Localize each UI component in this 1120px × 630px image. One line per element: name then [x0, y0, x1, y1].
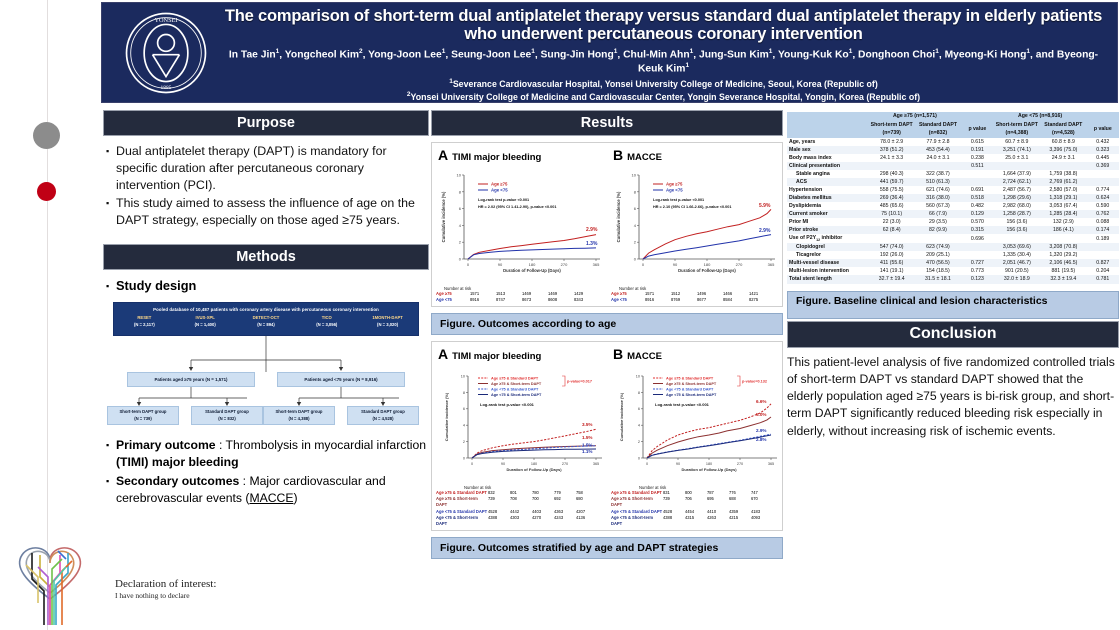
list-item: ▪ Secondary outcomes : Major cardiovascu… [106, 473, 429, 507]
svg-text:365: 365 [768, 262, 775, 267]
svg-text:180: 180 [531, 462, 537, 466]
cell-standard-dapt-ge75 [915, 162, 961, 170]
primary-outcome-emphasis: (TIMI) major bleeding [116, 455, 239, 469]
svg-text:Age ≥75 & Standard DAPT: Age ≥75 & Standard DAPT [666, 376, 714, 380]
cell-pvalue-ge75: 0.518 [961, 194, 993, 202]
svg-text:Age ≥75 & Standard DAPT: Age ≥75 & Standard DAPT [491, 376, 539, 380]
panel-title: MACCE [627, 351, 662, 362]
cell-pvalue-ge75: 0.727 [961, 259, 993, 267]
figure-1a-label: ATIMI major bleeding [438, 147, 607, 163]
svg-text:1.5%: 1.5% [582, 442, 592, 447]
svg-text:2: 2 [638, 440, 640, 444]
cell-pvalue-lt75: 0.432 [1087, 138, 1119, 146]
figure-2b-label: BMACCE [613, 346, 782, 362]
cell-pvalue-ge75 [961, 170, 993, 178]
table-row: Current smoker75 (10.1)66 (7.9)0.1291,25… [787, 210, 1119, 218]
flowchart-leaf-box: Short-term DAPT group (N = 4,388) [263, 406, 335, 425]
endpoint-label-red: 2.9% [586, 227, 598, 233]
svg-text:90: 90 [673, 262, 678, 267]
panel-letter: B [613, 346, 623, 362]
svg-text:1.1%: 1.1% [582, 449, 592, 454]
figure-2b: BMACCE 0 2 4 6 8 10 [609, 346, 782, 528]
cell-short-dapt-lt75: 1,298 (29.6) [994, 194, 1041, 202]
flowchart-leaf-box: Standard DAPT group (N = 4,528) [347, 406, 419, 425]
svg-text:10: 10 [632, 173, 637, 178]
svg-text:4: 4 [634, 223, 637, 228]
svg-text:0: 0 [471, 462, 473, 466]
conclusion-section-header: Conclusion [787, 321, 1119, 348]
risk-row: Age <75 8916 8769 8677 8584 8275 [611, 297, 782, 303]
row-label: Hypertension [787, 186, 869, 194]
row-label: Multi-lesion intervention [787, 267, 869, 275]
cell-short-dapt-lt75: 25.0 ± 3.1 [994, 154, 1041, 162]
km-curve-1b: 0 2 4 6 8 10 0 90 180 270 [609, 163, 782, 285]
cell-standard-dapt-lt75: 60.8 ± 8.9 [1040, 138, 1087, 146]
svg-text:1.5%: 1.5% [582, 435, 592, 440]
bullet-icon: ▪ [106, 195, 116, 229]
cell-standard-dapt-ge75: 29 (3.5) [915, 218, 961, 226]
trial-n: (N = 2,117) [114, 322, 175, 327]
cell-pvalue-ge75: 0.129 [961, 210, 993, 218]
figure-2a: ATIMI major bleeding 0 2 4 6 8 [434, 346, 607, 528]
cell-short-dapt-lt75: 156 (3.6) [994, 218, 1041, 226]
table-row: Ticagrelor192 (26.0)209 (25.1)1,335 (30.… [787, 251, 1119, 259]
svg-text:p-value=0.017: p-value=0.017 [567, 379, 592, 383]
figure-1b-label: BMACCE [613, 147, 782, 163]
cell-pvalue-lt75 [1087, 178, 1119, 186]
risk-row: Age ≥75 & Short-term DAPT 739 706 695 68… [611, 496, 782, 509]
cell-pvalue-ge75: 0.238 [961, 154, 993, 162]
svg-text:Age <75 & Standard DAPT: Age <75 & Standard DAPT [491, 387, 539, 391]
flowchart-trial: TICO (N = 3,056) [296, 315, 357, 328]
svg-text:0: 0 [634, 257, 637, 262]
svg-text:Duration of Follow-Up (Days): Duration of Follow-Up (Days) [503, 268, 561, 273]
cell-standard-dapt-ge75: 82 (9.9) [915, 226, 961, 234]
trial-n: (N = 3,020) [357, 322, 418, 327]
declaration-body: I have nothing to declare [115, 591, 355, 600]
cell-standard-dapt-ge75: 621 (74.6) [915, 186, 961, 194]
panel-letter: A [438, 147, 448, 163]
row-label: ACS [787, 178, 869, 186]
cell-standard-dapt-lt75 [1040, 234, 1087, 243]
cell-standard-dapt-lt75: 3,053 (67.4) [1040, 202, 1087, 210]
svg-text:Duration of Follow-Up (Days): Duration of Follow-Up (Days) [678, 268, 736, 273]
km-curve-2b: 0 2 4 6 8 10 0 90 180 270 [609, 362, 782, 484]
cell-standard-dapt-lt75: 3,396 (75.0) [1040, 146, 1087, 154]
cell-short-dapt-ge75: 378 (51.2) [869, 146, 915, 154]
cell-pvalue-lt75: 0.323 [1087, 146, 1119, 154]
flowchart-age-lt75-box: Patients aged <75 years (N = 8,916) [277, 372, 405, 387]
study-design-label: Study design [116, 278, 196, 295]
table-row: Prior stroke62 (8.4)82 (9.9)0.315156 (3.… [787, 226, 1119, 234]
km-curve-1a: 0 2 4 6 8 10 0 90 180 [434, 163, 607, 285]
left-column: Purpose ▪ Dual antiplatelet therapy (DAP… [103, 110, 429, 510]
svg-text:270: 270 [737, 462, 743, 466]
svg-text:6.6%: 6.6% [756, 399, 766, 404]
svg-text:6: 6 [638, 407, 640, 411]
cell-short-dapt-ge75: 78.0 ± 2.9 [869, 138, 915, 146]
cell-standard-dapt-ge75: 322 (38.7) [915, 170, 961, 178]
cell-pvalue-lt75: 0.369 [1087, 162, 1119, 170]
cell-short-dapt-lt75: 32.0 ± 18.9 [994, 275, 1041, 283]
cell-standard-dapt-lt75: 186 (4.1) [1040, 226, 1087, 234]
svg-text:0: 0 [467, 262, 470, 267]
cell-pvalue-lt75: 0.590 [1087, 202, 1119, 210]
cell-standard-dapt-lt75: 881 (19.5) [1040, 267, 1087, 275]
svg-text:270: 270 [736, 262, 743, 267]
row-label: Total stent length [787, 275, 869, 283]
row-label: Diabetes mellitus [787, 194, 869, 202]
trial-name: 1MONTH-DAPT [357, 315, 418, 320]
endpoint-label-red: 5.9% [759, 203, 771, 209]
th-blank-p2 [1087, 112, 1119, 121]
trial-n: (N = 3,056) [296, 322, 357, 327]
flowchart-trial: 1MONTH-DAPT (N = 3,020) [357, 315, 418, 328]
primary-outcome: Primary outcome : Thrombolysis in myocar… [116, 437, 429, 471]
row-label: Male sex [787, 146, 869, 154]
flowchart-trial: RESET (N = 2,117) [114, 315, 175, 328]
bullet-icon: ▪ [106, 278, 116, 295]
primary-outcome-text: : Thrombolysis in myocardial infarction [216, 438, 426, 452]
primary-outcome-label: Primary outcome [116, 438, 216, 452]
svg-text:YONSEI: YONSEI [154, 17, 177, 24]
row-label: Clinical presentation [787, 162, 869, 170]
row-label: Body mass index [787, 154, 869, 162]
svg-text:Age <75 & Standard DAPT: Age <75 & Standard DAPT [666, 387, 714, 391]
methods-section-header: Methods [103, 244, 429, 270]
trial-name: IVUS-XPL [175, 315, 236, 320]
heart-logo-icon [4, 533, 96, 625]
declaration-title: Declaration of interest: [115, 578, 355, 590]
risk-row: Age ≥75 & Short-term DAPT 739 708 700 69… [436, 496, 607, 509]
cell-standard-dapt-ge75: 510 (61.3) [915, 178, 961, 186]
figure-1-caption: Figure. Outcomes according to age [431, 313, 783, 335]
svg-text:8: 8 [638, 390, 640, 394]
svg-text:365: 365 [593, 462, 599, 466]
poster-affiliation-2: 2Yonsei University College of Medicine a… [220, 91, 1107, 103]
cell-short-dapt-ge75: 411 (55.6) [869, 259, 915, 267]
svg-text:Log-rank test p-value <0.001: Log-rank test p-value <0.001 [478, 198, 529, 202]
cell-standard-dapt-lt75: 1,285 (28.4) [1040, 210, 1087, 218]
cell-pvalue-lt75 [1087, 243, 1119, 251]
poster-affiliation-1: 1Severance Cardiovascular Hospital, Yons… [220, 78, 1107, 90]
purpose-bullet-1: Dual antiplatelet therapy (DAPT) is mand… [116, 143, 429, 194]
trial-name: TICO [296, 315, 357, 320]
outcomes-list: ▪ Primary outcome : Thrombolysis in myoc… [103, 437, 429, 507]
cell-short-dapt-lt75: 2,051 (46.7) [994, 259, 1041, 267]
table-row: Multi-vessel disease411 (55.6)470 (56.5)… [787, 259, 1119, 267]
secondary-outcome-tail: ) [293, 491, 297, 505]
cell-short-dapt-lt75: 60.7 ± 8.9 [994, 138, 1041, 146]
cell-pvalue-ge75: 0.696 [961, 234, 993, 243]
table-row: Male sex378 (51.2)453 (54.4)0.1913,251 (… [787, 146, 1119, 154]
cell-pvalue-ge75: 0.773 [961, 267, 993, 275]
cell-short-dapt-lt75: 1,335 (30.4) [994, 251, 1041, 259]
cell-short-dapt-ge75: 24.1 ± 3.3 [869, 154, 915, 162]
row-label: Prior MI [787, 218, 869, 226]
row-label: Dyslipidemia [787, 202, 869, 210]
cell-standard-dapt-ge75: 24.0 ± 3.1 [915, 154, 961, 162]
secondary-outcome-label: Secondary outcomes [116, 474, 239, 488]
cell-pvalue-lt75: 0.762 [1087, 210, 1119, 218]
th-standard-dapt-1: Standard DAPT [915, 121, 961, 130]
cell-standard-dapt-ge75: 77.9 ± 2.8 [915, 138, 961, 146]
svg-text:4: 4 [638, 423, 640, 427]
svg-text:180: 180 [529, 262, 536, 267]
cell-pvalue-lt75: 0.781 [1087, 275, 1119, 283]
table-row: ACS441 (59.7)510 (61.3)2,724 (62.1)2,769… [787, 178, 1119, 186]
svg-text:Cumulative incidence (%): Cumulative incidence (%) [444, 392, 449, 441]
svg-text:Duration of Follow-Up (Days): Duration of Follow-Up (Days) [681, 467, 737, 472]
svg-text:6: 6 [634, 206, 637, 211]
svg-text:p-value=0.132: p-value=0.132 [742, 379, 767, 383]
th-short-dapt-1: Short-term DAPT [869, 121, 915, 130]
cell-standard-dapt-ge75: 623 (74.9) [915, 243, 961, 251]
baseline-characteristics-table: Age ≥75 (n=1,571) Age <75 (n=8,916) Shor… [787, 112, 1119, 284]
th-blank [787, 112, 869, 121]
risk-row: Age <75 & Short-term DAPT 4388 4303 4270… [436, 515, 607, 528]
table-row: Clopidogrel547 (74.0)623 (74.9)3,053 (69… [787, 243, 1119, 251]
cell-short-dapt-lt75: 2,487 (56.7) [994, 186, 1041, 194]
panel-title: MACCE [627, 152, 662, 163]
list-item: ▪ Primary outcome : Thrombolysis in myoc… [106, 437, 429, 471]
km-curve-2a: 0 2 4 6 8 10 0 90 180 270 [434, 362, 607, 484]
cell-short-dapt-lt75: 3,053 (69.6) [994, 243, 1041, 251]
flowchart-age-ge75-box: Patients aged ≥75 years (N = 1,571) [127, 372, 255, 387]
declaration-of-interest: Declaration of interest: I have nothing … [115, 578, 355, 600]
poster-title: The comparison of short-term dual antipl… [220, 7, 1107, 44]
svg-text:10: 10 [461, 374, 465, 378]
endpoint-label-blue: 2.9% [759, 228, 771, 234]
purpose-bullet-list: ▪ Dual antiplatelet therapy (DAPT) is ma… [103, 143, 429, 230]
cell-pvalue-ge75 [961, 178, 993, 186]
svg-text:HR = 2.02 (95% CI 1.41-2.90),: HR = 2.02 (95% CI 1.41-2.90), p-value <0… [478, 205, 557, 209]
table-row: Age, years78.0 ± 2.977.9 ± 2.80.61560.7 … [787, 138, 1119, 146]
cell-short-dapt-ge75: 32.7 ± 19.4 [869, 275, 915, 283]
svg-text:Age ≥75 & Short-term DAPT: Age ≥75 & Short-term DAPT [491, 382, 542, 386]
endpoint-label-blue: 1.3% [586, 241, 598, 247]
row-label: Age, years [787, 138, 869, 146]
figure-2-caption: Figure. Outcomes stratified by age and D… [431, 537, 783, 559]
cell-pvalue-ge75: 0.315 [961, 226, 993, 234]
svg-text:2.9%: 2.9% [756, 428, 766, 433]
th-pvalue-1: p value [961, 121, 993, 138]
cell-standard-dapt-lt75: 1,320 (29.2) [1040, 251, 1087, 259]
svg-text:Age ≥75: Age ≥75 [666, 182, 683, 187]
cell-short-dapt-ge75: 298 (40.3) [869, 170, 915, 178]
svg-text:Age <75 & Short-term DAPT: Age <75 & Short-term DAPT [666, 393, 717, 397]
cell-standard-dapt-lt75: 1,759 (38.8) [1040, 170, 1087, 178]
table-row: Prior MI22 (3.0)29 (3.5)0.570156 (3.6)13… [787, 218, 1119, 226]
svg-text:Cumulative incidence (%): Cumulative incidence (%) [619, 392, 624, 441]
svg-text:Log-rank test p-value <0.001: Log-rank test p-value <0.001 [655, 402, 710, 407]
timeline-dot-red [37, 182, 56, 201]
row-label: Multi-vessel disease [787, 259, 869, 267]
table-row: Multi-lesion intervention141 (19.1)154 (… [787, 267, 1119, 275]
leaf-n: (N = 4,528) [372, 416, 393, 422]
cell-pvalue-lt75: 0.445 [1087, 154, 1119, 162]
svg-text:10: 10 [636, 374, 640, 378]
figure-1b: BMACCE 0 2 4 6 8 10 [609, 147, 782, 304]
table-row: Diabetes mellitus269 (36.4)316 (38.0)0.5… [787, 194, 1119, 202]
svg-text:2: 2 [463, 440, 465, 444]
cell-standard-dapt-lt75: 24.9 ± 3.1 [1040, 154, 1087, 162]
cell-short-dapt-ge75: 141 (19.1) [869, 267, 915, 275]
table-row: Stable angina298 (40.3)322 (38.7)1,664 (… [787, 170, 1119, 178]
km-plot-2a: 0 2 4 6 8 10 0 90 180 270 [434, 362, 607, 480]
svg-text:180: 180 [706, 462, 712, 466]
svg-text:4: 4 [459, 223, 462, 228]
cell-short-dapt-ge75: 192 (26.0) [869, 251, 915, 259]
cell-standard-dapt-ge75: 470 (56.5) [915, 259, 961, 267]
svg-text:3.5%: 3.5% [582, 422, 592, 427]
panel-letter: A [438, 346, 448, 362]
right-column: Age ≥75 (n=1,571) Age <75 (n=8,916) Shor… [787, 112, 1119, 440]
cell-short-dapt-ge75: 547 (74.0) [869, 243, 915, 251]
results-section-header: Results [431, 110, 783, 136]
panel-letter: B [613, 147, 623, 163]
cell-pvalue-lt75: 0.088 [1087, 218, 1119, 226]
trial-n: (N = 894) [236, 322, 297, 327]
conclusion-text: This patient-level analysis of five rand… [787, 354, 1119, 441]
svg-text:2: 2 [459, 240, 462, 245]
poster-header-banner: YONSEI 1885 The comparison of short-term… [101, 2, 1118, 103]
svg-text:0: 0 [463, 456, 465, 460]
cell-pvalue-ge75: 0.482 [961, 202, 993, 210]
svg-text:0: 0 [459, 257, 462, 262]
trial-name: DETECT-OCT [236, 315, 297, 320]
cell-standard-dapt-ge75: 209 (25.1) [915, 251, 961, 259]
cell-pvalue-lt75: 0.774 [1087, 186, 1119, 194]
cell-short-dapt-ge75: 441 (59.7) [869, 178, 915, 186]
table-row: Hypertension558 (75.5)621 (74.6)0.6912,4… [787, 186, 1119, 194]
table-row: Dyslipidemia485 (65.6)560 (67.3)0.4822,9… [787, 202, 1119, 210]
cell-short-dapt-lt75 [994, 162, 1041, 170]
svg-text:1885: 1885 [161, 85, 172, 91]
cell-standard-dapt-ge75: 560 (67.3) [915, 202, 961, 210]
cell-short-dapt-lt75: 3,251 (74.1) [994, 146, 1041, 154]
svg-text:90: 90 [501, 462, 505, 466]
svg-text:Cumulative incidence (%): Cumulative incidence (%) [441, 191, 446, 242]
cell-pvalue-ge75: 0.691 [961, 186, 993, 194]
cell-pvalue-lt75: 0.189 [1087, 234, 1119, 243]
table-header-sub-row: Short-term DAPT Standard DAPT p value Sh… [787, 121, 1119, 130]
cell-pvalue-lt75: 0.174 [1087, 226, 1119, 234]
flowchart-leaf-box: Standard DAPT group (N = 832) [191, 406, 263, 425]
purpose-bullet-2: This study aimed to assess the influence… [116, 195, 429, 229]
svg-text:8: 8 [463, 390, 465, 394]
cell-short-dapt-lt75 [994, 234, 1041, 243]
cell-short-dapt-lt75: 1,258 (28.7) [994, 210, 1041, 218]
svg-text:4: 4 [463, 423, 465, 427]
row-label: Clopidogrel [787, 243, 869, 251]
svg-text:Age <75 & Short-term DAPT: Age <75 & Short-term DAPT [491, 393, 542, 397]
svg-text:180: 180 [704, 262, 711, 267]
figure-1a: ATIMI major bleeding 0 2 4 [434, 147, 607, 304]
panel-title: TIMI major bleeding [452, 152, 541, 163]
cell-standard-dapt-ge75: 316 (38.0) [915, 194, 961, 202]
trial-n: (N = 1,400) [175, 322, 236, 327]
cell-standard-dapt-lt75: 32.3 ± 19.4 [1040, 275, 1087, 283]
svg-text:0: 0 [638, 456, 640, 460]
cell-pvalue-lt75: 0.204 [1087, 267, 1119, 275]
svg-text:365: 365 [768, 462, 774, 466]
row-label: Prior stroke [787, 226, 869, 234]
figure-1-container: ATIMI major bleeding 0 2 4 [431, 142, 783, 307]
svg-text:Duration of Follow-Up (Days): Duration of Follow-Up (Days) [506, 467, 562, 472]
cell-short-dapt-lt75: 2,724 (62.1) [994, 178, 1041, 186]
svg-text:Age <75: Age <75 [491, 188, 508, 193]
svg-text:HR = 2.10 (95% CI 1.66-2.66),: HR = 2.10 (95% CI 1.66-2.66), p-value <0… [653, 205, 732, 209]
leaf-n: (N = 739) [134, 416, 152, 422]
flowchart-leaf-box: Short-term DAPT group (N = 739) [107, 406, 179, 425]
results-column: Results ATIMI major bleeding [431, 110, 783, 559]
th-pvalue-2: p value [1087, 121, 1119, 138]
cell-standard-dapt-ge75 [915, 234, 961, 243]
table-header-group-row: Age ≥75 (n=1,571) Age <75 (n=8,916) [787, 112, 1119, 121]
university-seal-icon: YONSEI 1885 [124, 11, 208, 95]
km-plot-2b: 0 2 4 6 8 10 0 90 180 270 [609, 362, 782, 480]
timeline-dot-gray [33, 122, 60, 149]
flowchart-pooled-database-box: Pooled database of 10,487 patients with … [113, 302, 419, 336]
cell-short-dapt-lt75: 2,982 (68.0) [994, 202, 1041, 210]
cell-short-dapt-ge75: 269 (36.4) [869, 194, 915, 202]
poster-authors: In Tae Jin1, Yongcheol Kim2, Yong-Joon L… [220, 48, 1107, 77]
cell-pvalue-ge75: 0.511 [961, 162, 993, 170]
cell-standard-dapt-lt75: 1,318 (29.1) [1040, 194, 1087, 202]
th-short-dapt-2: Short-term DAPT [994, 121, 1041, 130]
figure-2a-label: ATIMI major bleeding [438, 346, 607, 362]
svg-text:Age ≥75 & Short-term DAPT: Age ≥75 & Short-term DAPT [666, 382, 717, 386]
list-item: ▪ This study aimed to assess the influen… [106, 195, 429, 229]
th-blank-p [961, 112, 993, 121]
macce-link[interactable]: MACCE [249, 491, 293, 505]
bullet-icon: ▪ [106, 473, 116, 507]
cell-short-dapt-lt75: 901 (20.5) [994, 267, 1041, 275]
svg-text:Cumulative incidence (%): Cumulative incidence (%) [616, 191, 621, 242]
svg-text:90: 90 [676, 462, 680, 466]
cell-standard-dapt-lt75 [1040, 162, 1087, 170]
cell-short-dapt-lt75: 1,664 (37.9) [994, 170, 1041, 178]
cell-standard-dapt-lt75: 3,208 (70.8) [1040, 243, 1087, 251]
flowchart-trial: IVUS-XPL (N = 1,400) [175, 315, 236, 328]
cell-standard-dapt-lt75: 2,769 (61.2) [1040, 178, 1087, 186]
list-item: ▪ Dual antiplatelet therapy (DAPT) is ma… [106, 143, 429, 194]
svg-text:365: 365 [593, 262, 600, 267]
cell-pvalue-lt75 [1087, 170, 1119, 178]
cell-pvalue-ge75: 0.615 [961, 138, 993, 146]
cell-short-dapt-ge75 [869, 234, 915, 243]
risk-row: Age <75 & Short-term DAPT 4388 4315 4263… [611, 515, 782, 528]
cell-standard-dapt-ge75: 31.5 ± 18.1 [915, 275, 961, 283]
svg-text:90: 90 [498, 262, 503, 267]
bullet-icon: ▪ [106, 437, 116, 471]
poster-canvas: YONSEI 1885 The comparison of short-term… [0, 0, 1120, 630]
table-row: Use of P2Y12 inhibitor0.6960.189 [787, 234, 1119, 243]
svg-text:Age <75: Age <75 [666, 188, 683, 193]
svg-text:8: 8 [459, 189, 462, 194]
cell-standard-dapt-ge75: 154 (18.5) [915, 267, 961, 275]
cell-pvalue-lt75: 0.624 [1087, 194, 1119, 202]
leaf-n: (N = 832) [218, 416, 236, 422]
th-n-2: (n=832) [915, 129, 961, 138]
cell-pvalue-ge75 [961, 243, 993, 251]
svg-text:2: 2 [634, 240, 637, 245]
bullet-icon: ▪ [106, 143, 116, 194]
cell-short-dapt-ge75: 75 (10.1) [869, 210, 915, 218]
svg-text:8: 8 [634, 189, 637, 194]
cell-short-dapt-ge75: 485 (65.6) [869, 202, 915, 210]
